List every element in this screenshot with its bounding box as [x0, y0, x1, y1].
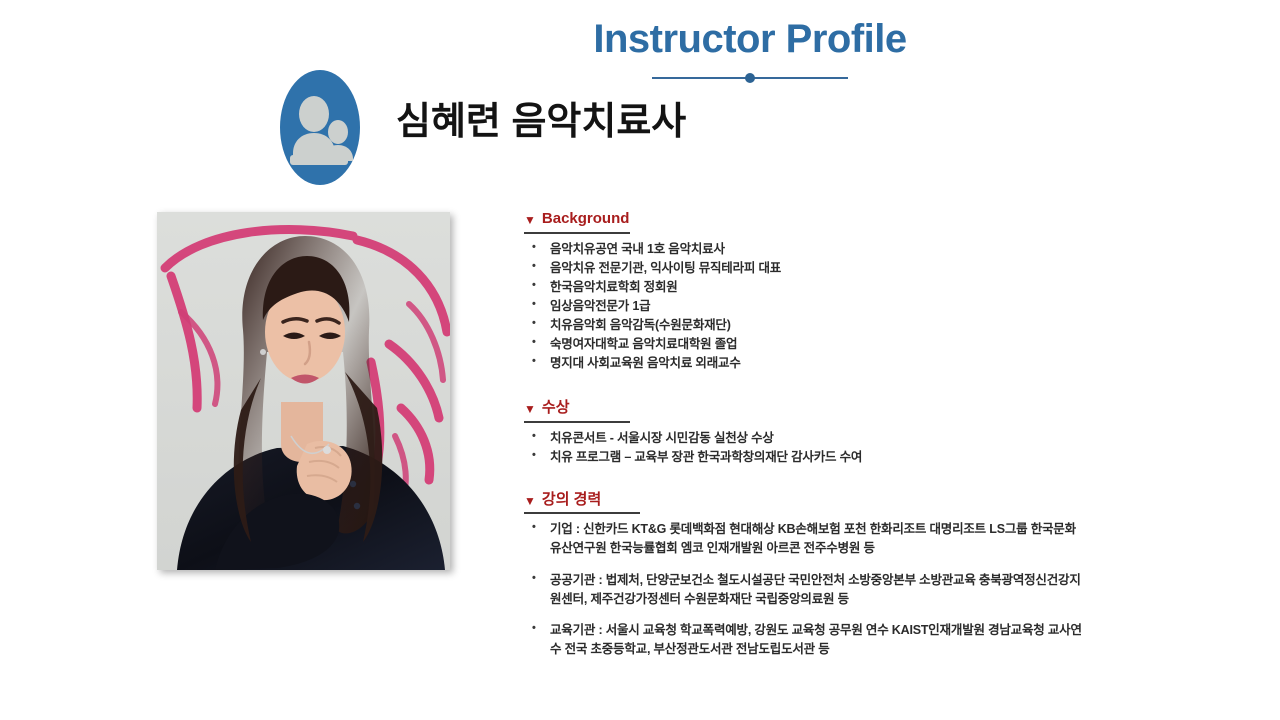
section-awards-rule [524, 421, 630, 423]
section-career-heading: ▼ 강의 경력 [524, 491, 1084, 512]
title-block: Instructor Profile [520, 16, 980, 84]
list-item: 음악치유공연 국내 1호 음악치료사 [524, 240, 1084, 259]
instructor-portrait-photo [157, 212, 450, 570]
section-awards: ▼ 수상 치유콘서트 - 서울시장 시민감동 실천상 수상 치유 프로그램 – … [524, 399, 1084, 467]
list-item: 임상음악전문가 1급 [524, 297, 1084, 316]
section-career-rule [524, 512, 640, 514]
people-avatar-icon [280, 70, 360, 185]
section-awards-title: 수상 [542, 399, 570, 418]
section-background-rule [524, 232, 630, 234]
page-title: Instructor Profile [520, 16, 980, 62]
background-list: 음악치유공연 국내 1호 음악치료사 음악치유 전문기관, 익사이팅 뮤직테라피… [524, 240, 1084, 373]
instructor-profile-slide: Instructor Profile 심혜련 음악치료사 [0, 0, 1280, 720]
awards-list: 치유콘서트 - 서울시장 시민감동 실천상 수상 치유 프로그램 – 교육부 장… [524, 429, 1084, 467]
divider-dot [745, 73, 755, 83]
list-item: 치유음악회 음악감독(수원문화재단) [524, 316, 1084, 335]
list-item: 명지대 사회교육원 음악치료 외래교수 [524, 354, 1084, 373]
triangle-down-icon: ▼ [524, 495, 536, 507]
title-divider [652, 72, 848, 84]
section-background-title: Background [542, 210, 630, 229]
career-list: 기업 : 신한카드 KT&G 롯데백화점 현대해상 KB손해보험 포천 한화리조… [524, 520, 1084, 659]
list-item: 치유 프로그램 – 교육부 장관 한국과학창의재단 감사카드 수여 [524, 448, 1084, 467]
list-item: 한국음악치료학회 정회원 [524, 278, 1084, 297]
instructor-name: 심혜련 음악치료사 [396, 90, 686, 145]
list-item: 치유콘서트 - 서울시장 시민감동 실천상 수상 [524, 429, 1084, 448]
list-item: 숙명여자대학교 음악치료대학원 졸업 [524, 335, 1084, 354]
triangle-down-icon: ▼ [524, 403, 536, 415]
list-item: 공공기관 : 법제처, 단양군보건소 철도시설공단 국민안전처 소방중앙본부 소… [524, 571, 1084, 609]
list-item: 교육기관 : 서울시 교육청 학교폭력예방, 강원도 교육청 공무원 연수 KA… [524, 621, 1084, 659]
triangle-down-icon: ▼ [524, 214, 536, 226]
profile-sections: ▼ Background 음악치유공연 국내 1호 음악치료사 음악치유 전문기… [524, 210, 1084, 663]
list-item: 기업 : 신한카드 KT&G 롯데백화점 현대해상 KB손해보험 포천 한화리조… [524, 520, 1084, 558]
section-awards-heading: ▼ 수상 [524, 399, 1084, 420]
list-item: 음악치유 전문기관, 익사이팅 뮤직테라피 대표 [524, 259, 1084, 278]
section-career: ▼ 강의 경력 기업 : 신한카드 KT&G 롯데백화점 현대해상 KB손해보험… [524, 491, 1084, 659]
section-career-title: 강의 경력 [542, 491, 601, 510]
section-background: ▼ Background 음악치유공연 국내 1호 음악치료사 음악치유 전문기… [524, 210, 1084, 373]
section-background-heading: ▼ Background [524, 210, 1084, 231]
portrait-image [157, 212, 450, 570]
